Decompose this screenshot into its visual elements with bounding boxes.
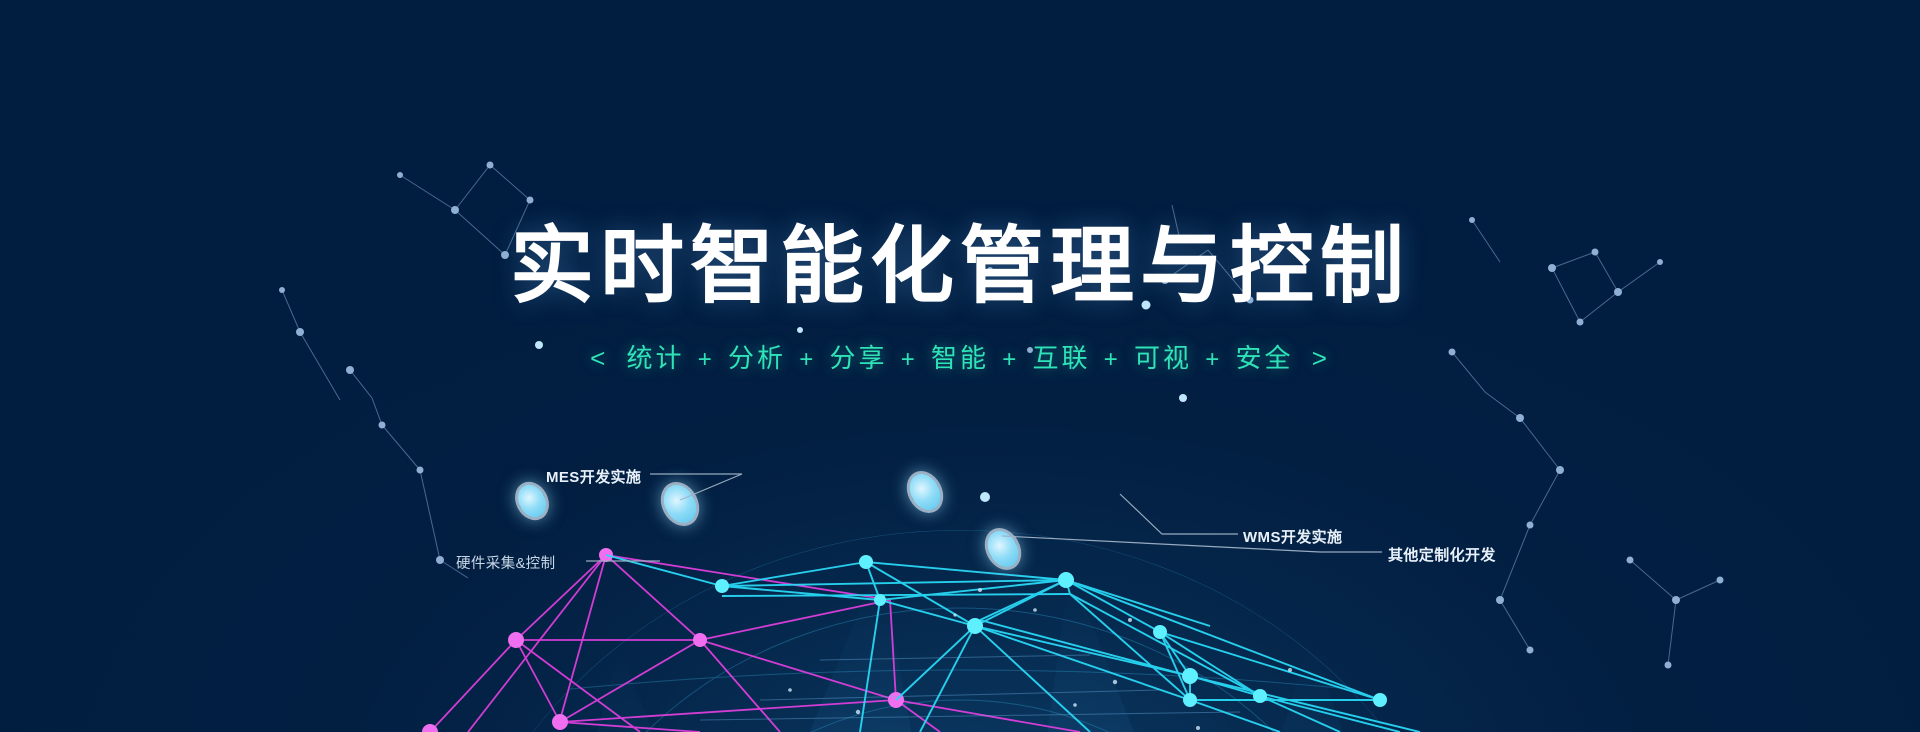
subtitle-open-bracket: < (582, 343, 616, 373)
subtitle-keyword-0: 统计 (626, 343, 684, 373)
subtitle-separator: + (999, 346, 1022, 373)
subtitle-close-bracket: > (1304, 343, 1338, 373)
hotspot-marker-mes[interactable] (653, 475, 706, 533)
subtitle-keyword-4: 互联 (1032, 343, 1090, 373)
callout-label-other[interactable]: 其他定制化开发 (1388, 544, 1496, 565)
callout-label-hardware[interactable]: 硬件采集&控制 (456, 552, 555, 573)
callout-label-wms[interactable]: WMS开发实施 (1243, 526, 1342, 547)
hotspot-marker-wms[interactable] (900, 465, 951, 520)
subtitle-keyword-3: 智能 (931, 343, 989, 373)
callout-label-mes[interactable]: MES开发实施 (546, 466, 641, 487)
subtitle-keywords: < 统计 + 分析 + 分享 + 智能 + 互联 + 可视 + 安全 > (0, 338, 1920, 375)
subtitle-keyword-2: 分享 (829, 343, 887, 373)
subtitle-keyword-1: 分析 (728, 343, 786, 373)
subtitle-keyword-6: 安全 (1235, 343, 1293, 373)
subtitle-separator: + (1101, 346, 1124, 373)
page-title: 实时智能化管理与控制 (0, 226, 1920, 310)
subtitle-keyword-5: 可视 (1134, 343, 1192, 373)
hero-banner: 实时智能化管理与控制 < 统计 + 分析 + 分享 + 智能 + 互联 + 可视… (0, 0, 1920, 732)
subtitle-separator: + (796, 346, 819, 373)
subtitle-separator: + (898, 346, 921, 373)
subtitle-separator: + (1202, 346, 1225, 373)
subtitle-separator: + (695, 346, 718, 373)
hotspot-marker-other[interactable] (978, 522, 1029, 577)
